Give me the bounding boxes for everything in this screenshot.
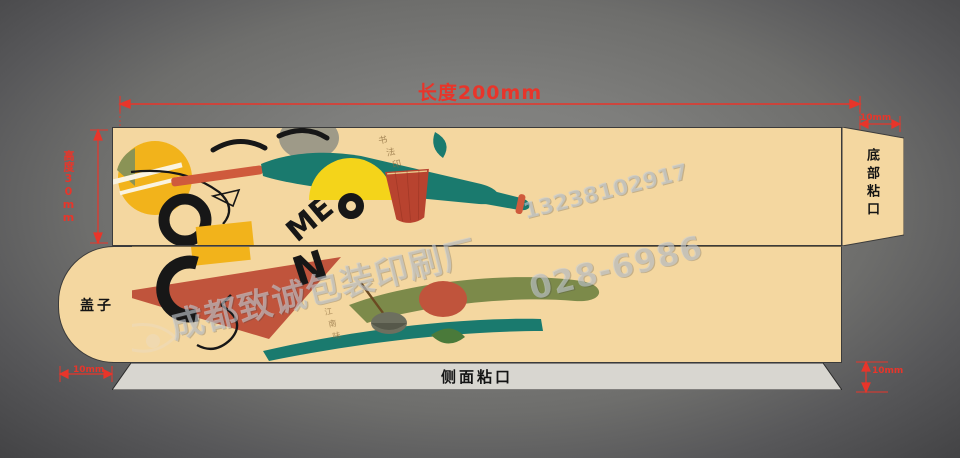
svg-text:南: 南 [328, 318, 338, 329]
dimension-lid-width: 10mm [73, 365, 104, 375]
panel-bottom-face: N 江 南 味 [112, 246, 842, 363]
dimension-bottom-flap-height: 10mm [872, 366, 903, 376]
svg-text:味: 味 [332, 330, 342, 341]
dimension-length-label: 长度200mm [0, 78, 960, 105]
dimension-right-flap-width: 10mm [860, 113, 891, 123]
packaging-dieline-diagram: ME [0, 0, 960, 458]
svg-text:江: 江 [324, 307, 333, 317]
label-lid: 盖子 [62, 295, 132, 315]
artwork-illustration-top: ME [113, 128, 842, 246]
dimension-height-label: 高度30mm [54, 150, 74, 224]
panel-top-face: ME [112, 127, 842, 246]
label-bottom-glue-flap: 侧面粘口 [112, 366, 842, 387]
label-right-glue-flap: 底部粘口 [855, 148, 881, 220]
artwork-illustration-bottom: N 江 南 味 [113, 247, 842, 363]
